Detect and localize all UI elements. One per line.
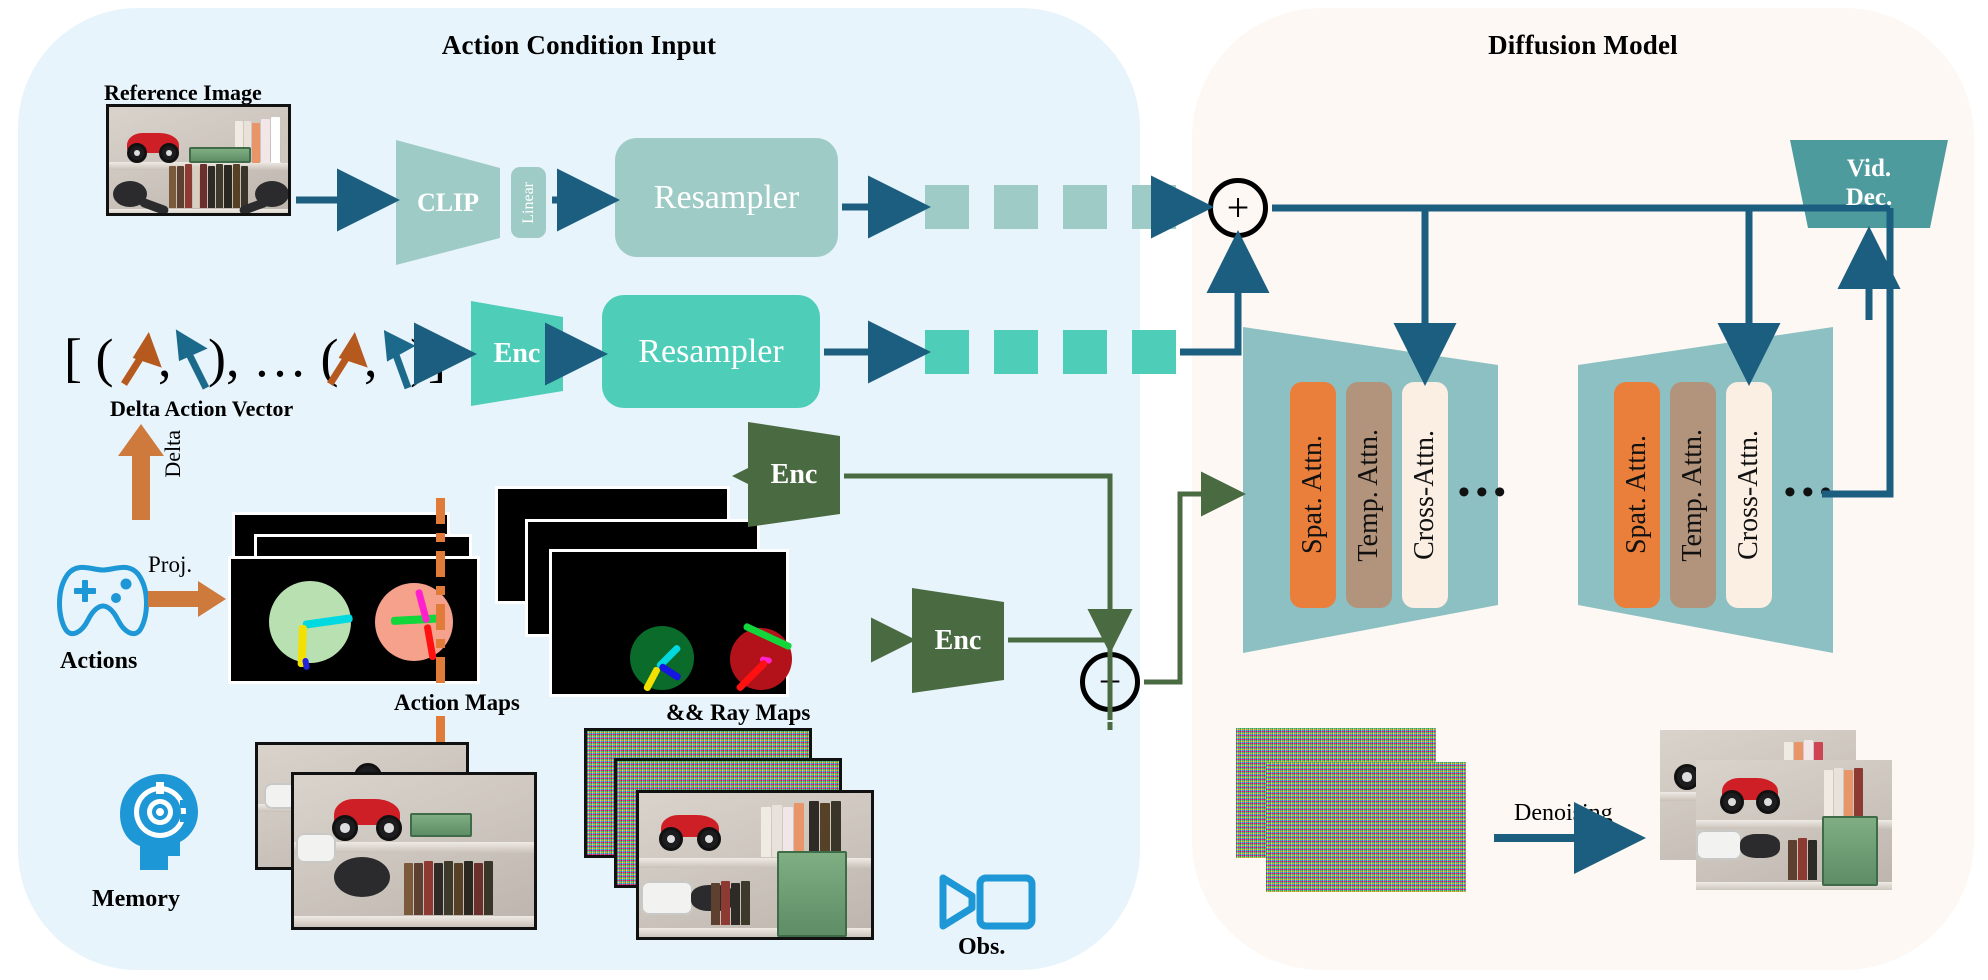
left-panel-title: Action Condition Input (18, 30, 1140, 61)
observation-frame-front (636, 790, 874, 940)
action-maps-label: Action Maps (394, 690, 520, 716)
denoised-output-front (1696, 760, 1892, 890)
reference-image (106, 104, 291, 216)
action-encoder-block[interactable]: Enc (471, 301, 563, 406)
latent-sum-node: + (1080, 652, 1140, 712)
clip-encoder-block[interactable]: CLIP (396, 140, 500, 265)
unet1-temporal-attention[interactable]: Temp. Attn. (1346, 382, 1392, 608)
right-panel-title: Diffusion Model (1192, 30, 1974, 61)
denoising-label: Denoising (1514, 800, 1613, 827)
token-sum-node: + (1208, 178, 1268, 238)
reference-image-label: Reference Image (104, 80, 262, 106)
svg-text:), … (: ), … ( (208, 328, 338, 388)
proj-arrow (148, 581, 226, 617)
video-decoder-line1: Vid. (1846, 155, 1893, 184)
image-token-3 (1063, 185, 1107, 229)
unet1-spatial-attention[interactable]: Spat. Attn. (1290, 382, 1336, 608)
enc-action-label: Enc (494, 338, 541, 370)
unet2-ellipsis: ••• (1784, 474, 1838, 512)
action-token-3 (1063, 330, 1107, 374)
unet2-temporal-attention[interactable]: Temp. Attn. (1670, 382, 1716, 608)
svg-text:[ (: [ ( (64, 328, 113, 388)
image-token-2 (994, 185, 1038, 229)
linear-label: Linear (520, 182, 538, 224)
image-token-4 (1132, 185, 1176, 229)
svg-text:)]: )] (410, 328, 446, 388)
unet1-cross-attention[interactable]: Cross-Attn. (1402, 382, 1448, 608)
memory-frame-front (291, 772, 537, 930)
enc-obs-label: Enc (935, 625, 982, 657)
svg-text:,: , (364, 328, 378, 388)
ray-map-frame-front (549, 549, 789, 697)
plus-symbol-bottom: + (1099, 662, 1122, 702)
linear-block[interactable]: Linear (511, 167, 546, 238)
delta-action-vector-label: Delta Action Vector (110, 396, 293, 422)
svg-text:,: , (158, 328, 172, 388)
unet2-cross-attention[interactable]: Cross-Attn. (1726, 382, 1772, 608)
image-token-1 (925, 185, 969, 229)
action-token-1 (925, 330, 969, 374)
memory-label: Memory (92, 886, 180, 913)
separator-upper (436, 498, 445, 692)
obs-label: Obs. (958, 934, 1005, 961)
resampler-action-block[interactable]: Resampler (602, 295, 820, 408)
resampler-image-label: Resampler (654, 179, 799, 217)
ray-maps-label: && Ray Maps (666, 700, 810, 726)
clip-label: CLIP (417, 188, 479, 218)
obs-encoder-block[interactable]: Enc (912, 588, 1004, 693)
plus-symbol-top: + (1227, 188, 1250, 228)
actions-label: Actions (60, 648, 137, 675)
enc-raymaps-label: Enc (771, 459, 818, 491)
unet1-ellipsis: ••• (1458, 474, 1512, 512)
action-token-4 (1132, 330, 1176, 374)
video-decoder-line2: Dec. (1846, 184, 1893, 213)
action-token-2 (994, 330, 1038, 374)
delta-arrow-label: Delta (160, 430, 186, 478)
proj-label: Proj. (148, 552, 192, 578)
denoising-input-noisy-front (1266, 762, 1466, 892)
unet2-spatial-attention[interactable]: Spat. Attn. (1614, 382, 1660, 608)
resampler-action-label: Resampler (638, 333, 783, 371)
raymaps-encoder-block[interactable]: Enc (748, 422, 840, 527)
resampler-image-block[interactable]: Resampler (615, 138, 838, 257)
video-decoder-block[interactable]: Vid. Dec. (1790, 140, 1948, 228)
camera-icon (938, 872, 1038, 932)
memory-brain-icon (110, 772, 202, 872)
gamepad-icon (48, 560, 158, 640)
delta-up-arrow (118, 424, 164, 520)
